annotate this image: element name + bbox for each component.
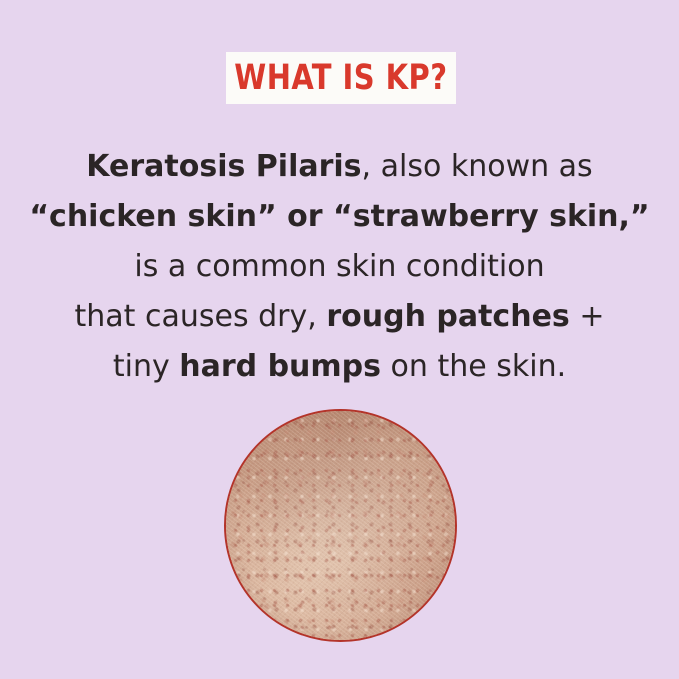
body-line-1: Keratosis Pilaris, also known as	[0, 142, 679, 192]
body-line-1-regular: , also known as	[362, 149, 593, 184]
body-line-4-regular-b: +	[570, 299, 605, 334]
body-line-5: tiny hard bumps on the skin.	[0, 342, 679, 392]
skin-photo-circle	[224, 409, 457, 642]
body-line-4: that causes dry, rough patches +	[0, 292, 679, 342]
body-line-5-bold: hard bumps	[179, 349, 381, 384]
body-line-2-bold: “chicken skin” or “strawberry skin,”	[29, 199, 649, 234]
body-line-3-regular: is a common skin condition	[134, 249, 544, 284]
body-line-5-regular-b: on the skin.	[381, 349, 566, 384]
page-title: WHAT IS KP?	[234, 61, 447, 96]
body-line-1-bold: Keratosis Pilaris	[86, 149, 361, 184]
body-line-3: is a common skin condition	[0, 242, 679, 292]
body-line-4-regular-a: that causes dry,	[75, 299, 327, 334]
body-line-4-bold: rough patches	[326, 299, 569, 334]
kp-infographic: WHAT IS KP? Keratosis Pilaris, also know…	[0, 0, 679, 679]
body-copy: Keratosis Pilaris, also known as “chicke…	[0, 142, 679, 392]
body-line-2: “chicken skin” or “strawberry skin,”	[0, 192, 679, 242]
skin-vignette-layer	[226, 411, 455, 640]
body-line-5-regular-a: tiny	[113, 349, 179, 384]
title-band: WHAT IS KP?	[226, 52, 456, 104]
